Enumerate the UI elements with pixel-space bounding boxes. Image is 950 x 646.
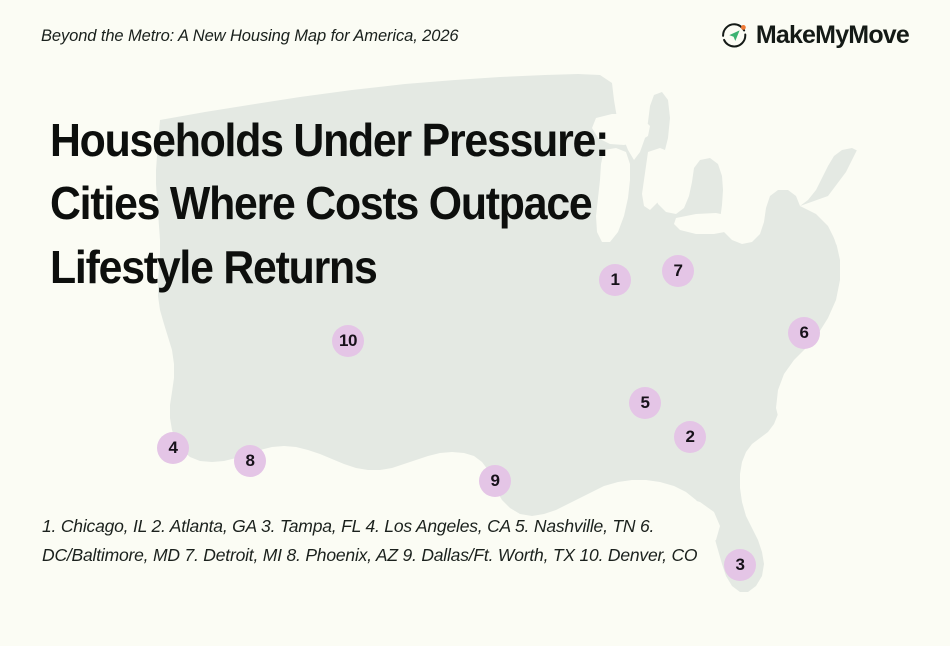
marker-rank-label: 1 bbox=[610, 270, 619, 290]
marker-rank-label: 2 bbox=[685, 427, 694, 447]
map-marker-2[interactable]: 2 bbox=[674, 421, 706, 453]
map-marker-10[interactable]: 10 bbox=[332, 325, 364, 357]
marker-rank-label: 4 bbox=[168, 438, 177, 458]
marker-rank-label: 8 bbox=[245, 451, 254, 471]
marker-rank-label: 9 bbox=[490, 471, 499, 491]
map-marker-4[interactable]: 4 bbox=[157, 432, 189, 464]
marker-rank-label: 3 bbox=[735, 555, 744, 575]
map-marker-6[interactable]: 6 bbox=[788, 317, 820, 349]
marker-rank-label: 7 bbox=[673, 261, 682, 281]
map-marker-5[interactable]: 5 bbox=[629, 387, 661, 419]
map-marker-9[interactable]: 9 bbox=[479, 465, 511, 497]
map-marker-7[interactable]: 7 bbox=[662, 255, 694, 287]
city-marker-layer: 1 2 3 4 5 6 7 8 9 10 bbox=[0, 0, 950, 646]
marker-rank-label: 10 bbox=[339, 331, 357, 351]
marker-rank-label: 6 bbox=[799, 323, 808, 343]
map-marker-8[interactable]: 8 bbox=[234, 445, 266, 477]
infographic-page: 1 2 3 4 5 6 7 8 9 10 Beyond the Metro: A… bbox=[0, 0, 950, 646]
map-marker-1[interactable]: 1 bbox=[599, 264, 631, 296]
marker-rank-label: 5 bbox=[640, 393, 649, 413]
map-marker-3[interactable]: 3 bbox=[724, 549, 756, 581]
